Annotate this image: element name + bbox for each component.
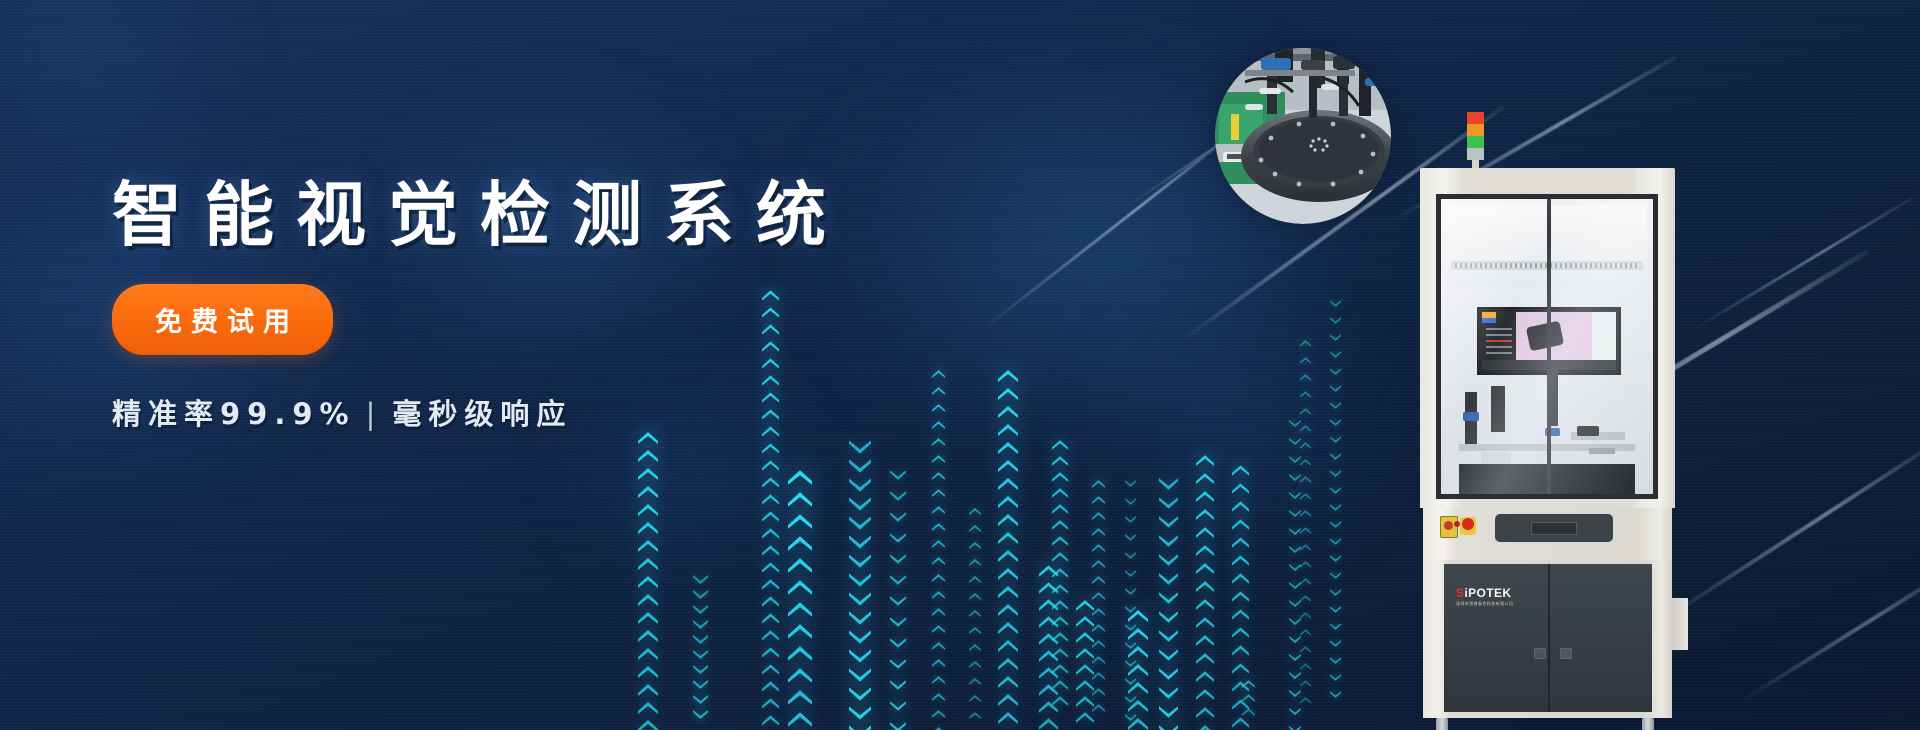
leveling-foot-left: [1429, 718, 1455, 730]
light-streak: [1739, 563, 1920, 704]
cabinet-doors[interactable]: SiPOTEK 深圳市思普泰克科技有限公司: [1444, 564, 1652, 712]
tagline-response: 毫秒级响应: [392, 397, 572, 431]
hero-text-block: 智能视觉检测系统 免费试用 精准率99.9%|毫秒级响应: [112, 180, 1012, 433]
brand-logo-subtext: 深圳市思普泰克科技有限公司: [1456, 601, 1513, 607]
machine-control-band: [1423, 508, 1672, 560]
brand-logo: SiPOTEK 深圳市思普泰克科技有限公司: [1456, 586, 1513, 607]
product-machine: SiPOTEK 深圳市思普泰克科技有限公司: [1420, 150, 1685, 695]
tagline-accuracy: 精准率99.9%: [112, 397, 356, 431]
control-panel-slot: [1531, 522, 1577, 535]
glass-door-frame: [1436, 194, 1658, 499]
light-streak: [1689, 196, 1913, 332]
hero-tagline: 精准率99.9%|毫秒级响应: [112, 391, 1012, 433]
glass-panel: [1441, 199, 1653, 494]
product-inset-photo: [1215, 48, 1391, 224]
inset-machine-illustration: [1215, 48, 1391, 224]
emergency-stop-button[interactable]: [1460, 517, 1476, 535]
emergency-stop-switch[interactable]: [1440, 516, 1458, 538]
brand-logo-rest: iPOTEK: [1464, 586, 1511, 600]
tower-light: [1467, 112, 1484, 168]
leveling-foot-right: [1635, 718, 1661, 730]
machine-upper-cabinet: [1420, 168, 1675, 508]
control-panel[interactable]: [1495, 514, 1613, 542]
hero-banner: SiPOTEK 深圳市思普泰克科技有限公司 智能视觉检测系统 免费试用 精准率9…: [0, 0, 1920, 730]
free-trial-button[interactable]: 免费试用: [112, 284, 333, 355]
light-streak: [979, 121, 1249, 333]
door-handle-right[interactable]: [1560, 648, 1572, 659]
brand-logo-text: SiPOTEK: [1456, 586, 1513, 600]
tagline-separator: |: [356, 397, 393, 431]
page-title: 智能视觉检测系统: [112, 180, 1012, 250]
door-handle-left[interactable]: [1534, 648, 1546, 659]
machine-lower-cabinet: SiPOTEK 深圳市思普泰克科技有限公司: [1423, 560, 1672, 718]
light-streak: [1659, 441, 1920, 624]
machine-side-bracket: [1672, 598, 1688, 650]
